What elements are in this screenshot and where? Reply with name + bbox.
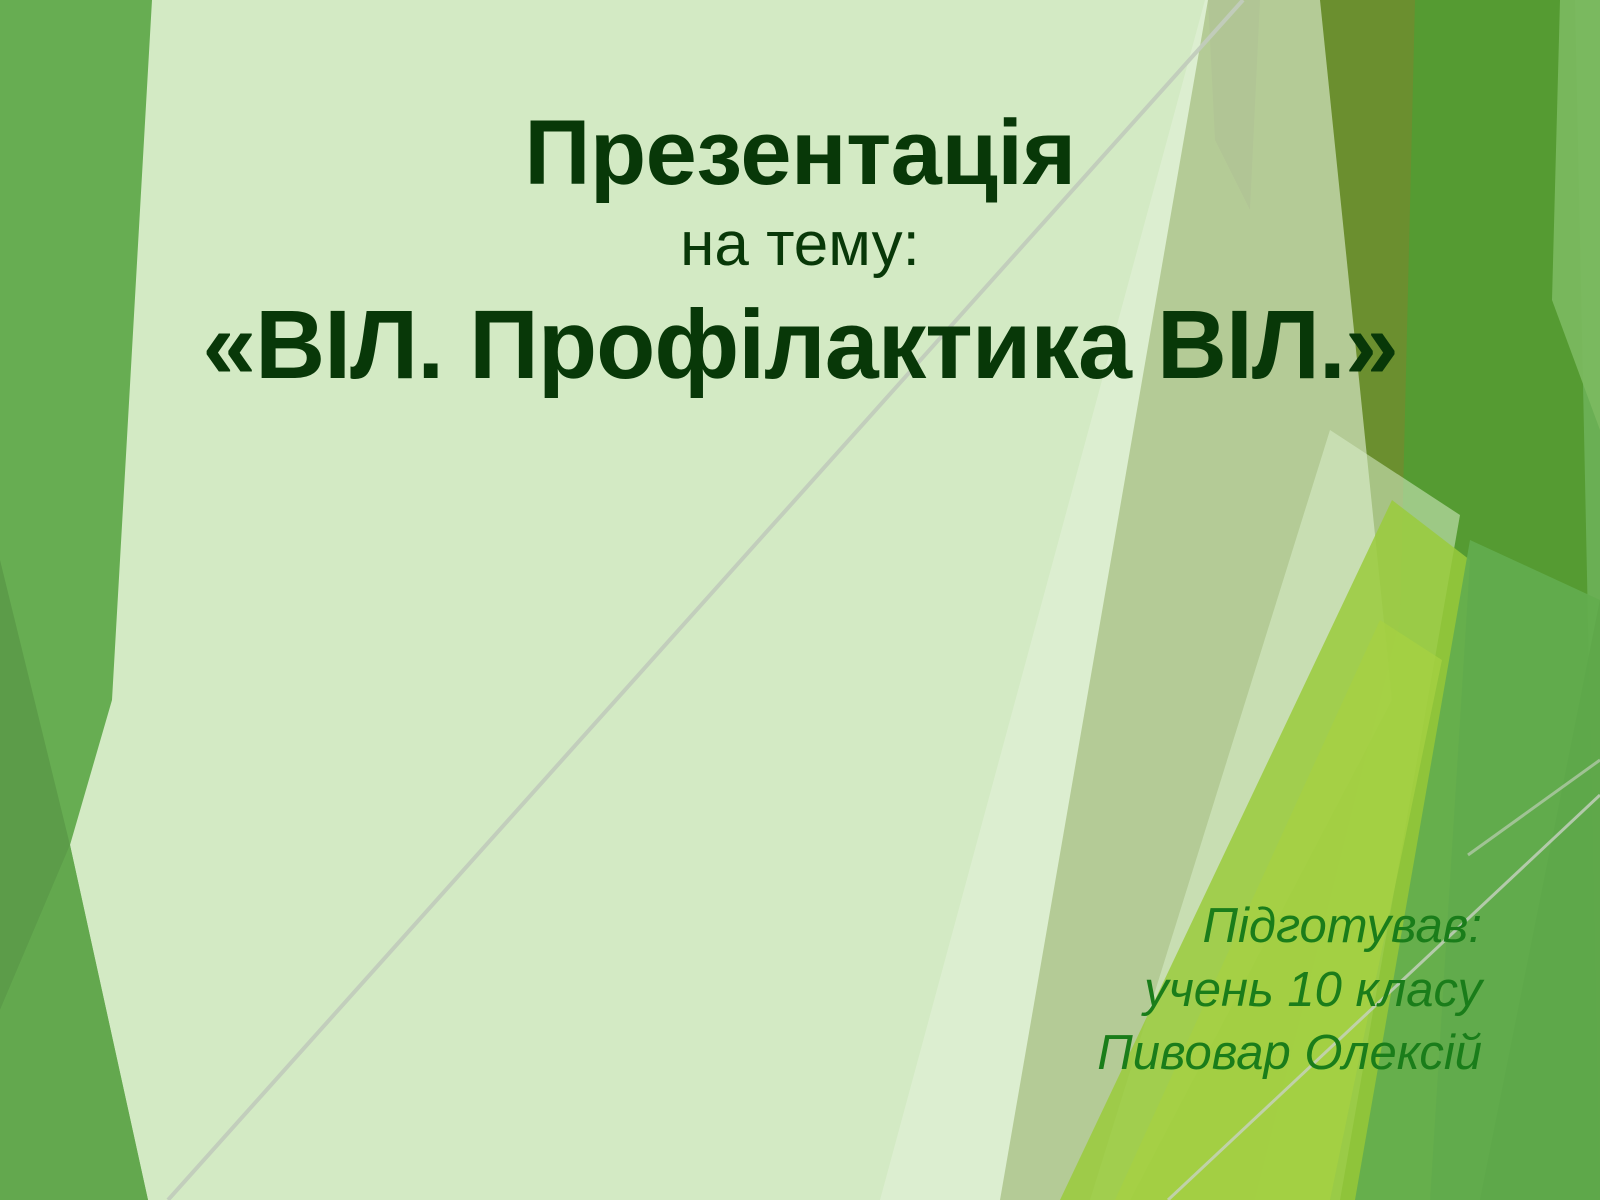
author-class-line: учень 10 класу — [1097, 959, 1482, 1023]
title-line-subject-label: на тему: — [0, 203, 1600, 287]
author-credit-block: Підготував: учень 10 класу Пивовар Олекс… — [1097, 895, 1482, 1086]
slide-title-block: Презентація на тему: «ВІЛ. Профілактика … — [0, 104, 1600, 403]
presentation-slide: Презентація на тему: «ВІЛ. Профілактика … — [0, 0, 1600, 1200]
author-name-line: Пивовар Олексій — [1097, 1022, 1482, 1086]
title-line-topic: «ВІЛ. Профілактика ВІЛ.» — [0, 287, 1600, 403]
title-line-presentation: Презентація — [0, 104, 1600, 203]
author-prepared-by-label: Підготував: — [1097, 895, 1482, 959]
